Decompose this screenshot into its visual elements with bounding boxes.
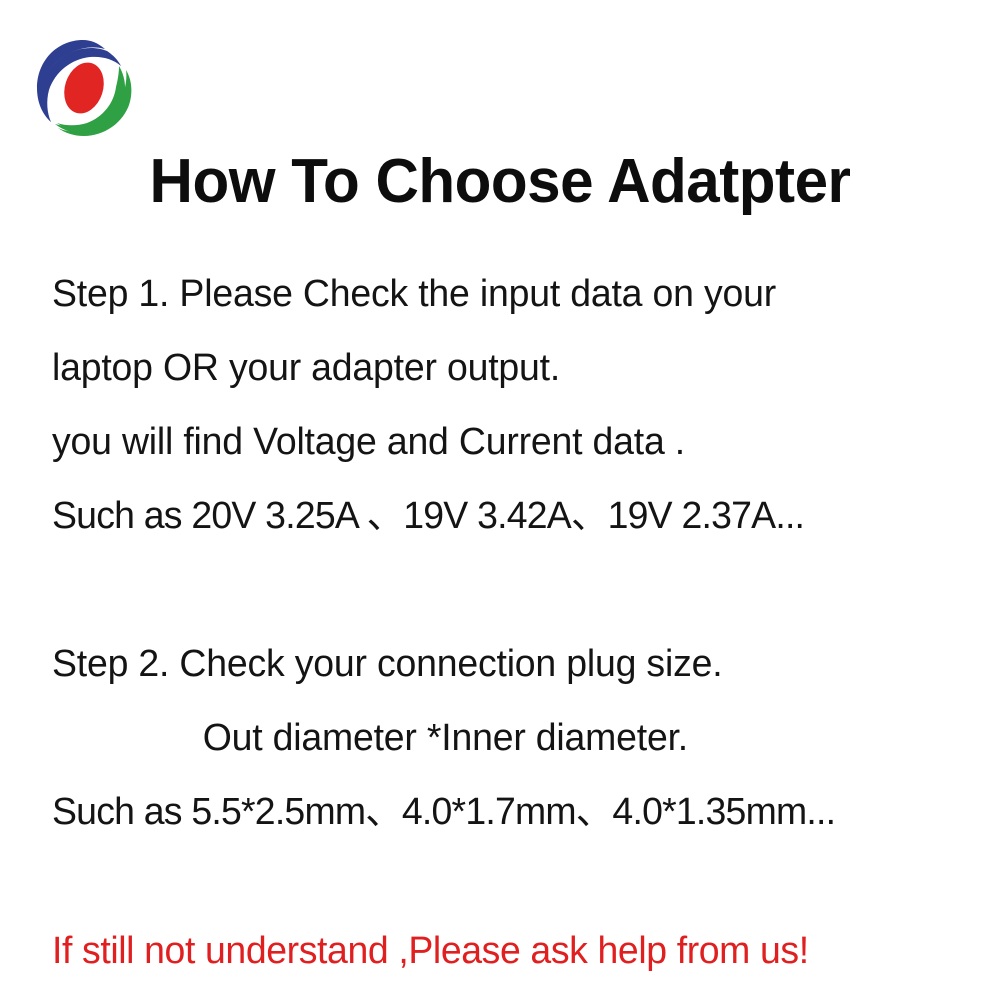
company-logo-at-symbol <box>33 36 135 140</box>
step-1-line-1: Step 1. Please Check the input data on y… <box>52 257 986 331</box>
step-1-line-2: laptop OR your adapter output. <box>52 331 986 405</box>
step-2-line-2-diameter-note: Out diameter *Inner diameter. <box>52 701 986 775</box>
step-1-block: Step 1. Please Check the input data on y… <box>52 257 1000 553</box>
help-call-to-action-text: If still not understand ,Please ask help… <box>52 925 986 977</box>
step-1-line-3: you will find Voltage and Current data . <box>52 405 986 479</box>
page-title: How To Choose Adatpter <box>15 146 985 218</box>
step-1-line-4-examples: Such as 20V 3.25A 、19V 3.42A、19V 2.37A..… <box>52 479 986 553</box>
step-2-line-1: Step 2. Check your connection plug size. <box>52 627 986 701</box>
adapter-selection-guide-page: How To Choose Adatpter Step 1. Please Ch… <box>0 0 1000 1000</box>
step-2-line-3-examples: Such as 5.5*2.5mm、4.0*1.7mm、4.0*1.35mm..… <box>52 775 986 849</box>
step-2-block: Step 2. Check your connection plug size.… <box>52 627 1000 849</box>
